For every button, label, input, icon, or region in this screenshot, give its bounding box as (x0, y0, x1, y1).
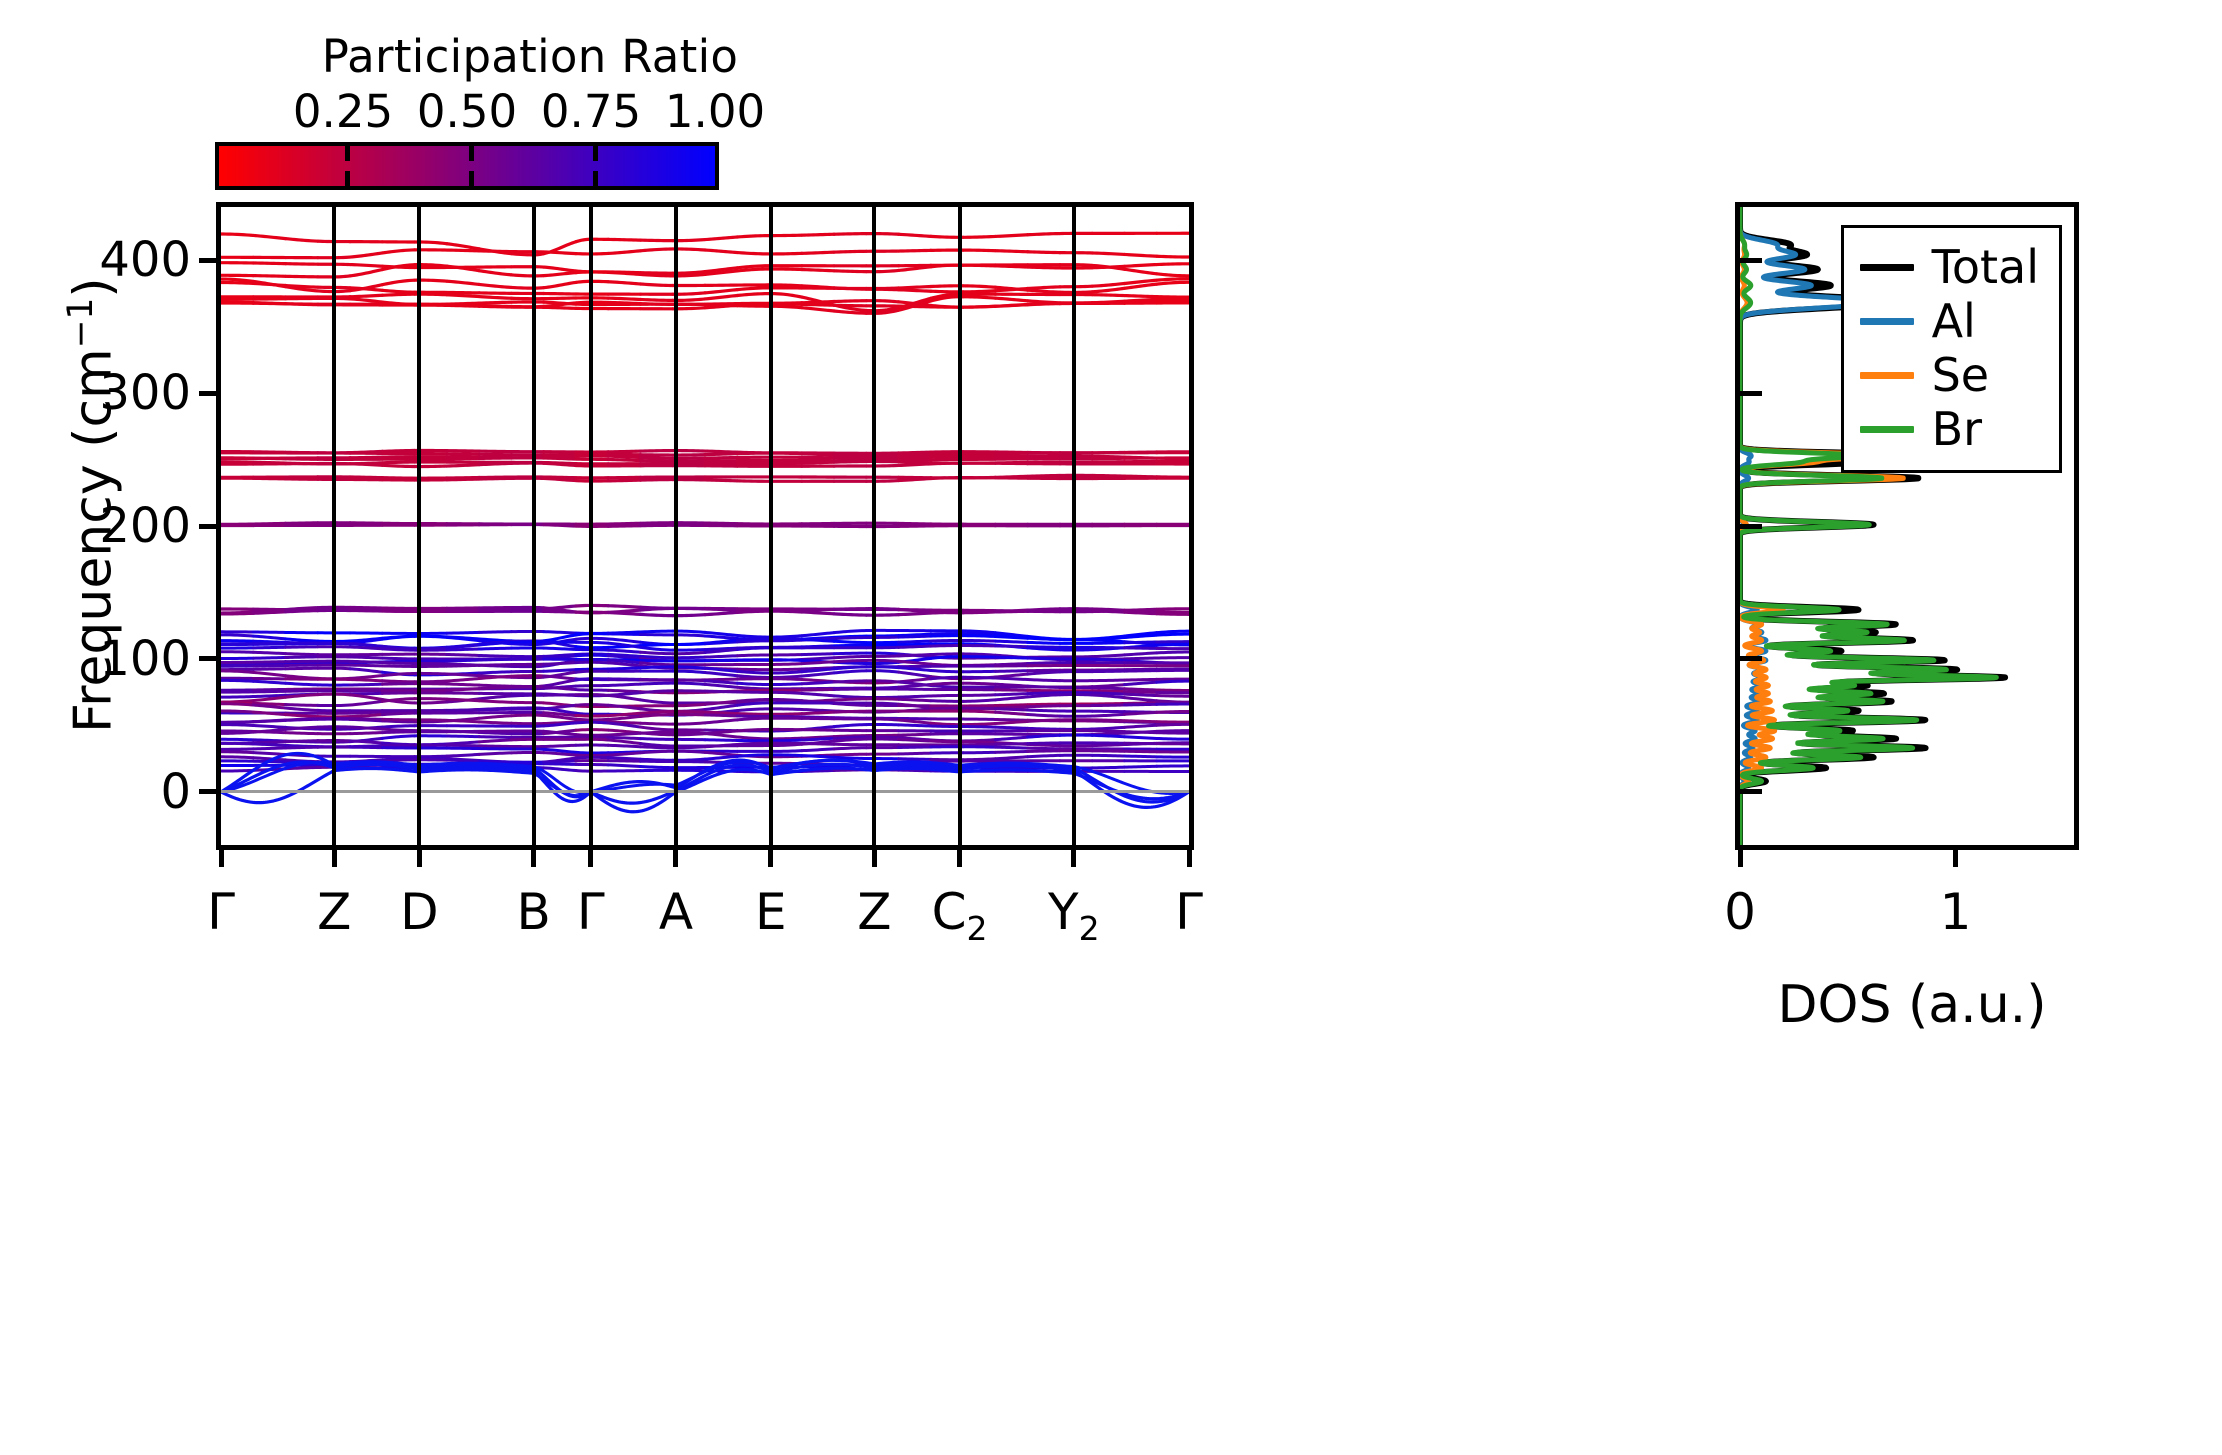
legend-label: Br (1932, 406, 1982, 452)
legend-entry: Al (1860, 294, 2039, 348)
kpoint-separator-line (332, 207, 336, 845)
dos-frequency-tick-mark (1740, 789, 1762, 794)
dos-axis-label: DOS (a.u.) (1740, 975, 2084, 1035)
kpoint-separator-line (417, 207, 421, 845)
frequency-tick-mark (199, 391, 221, 396)
colorbar-tick-labels: 0.250.500.751.00 (215, 85, 735, 139)
dos-tick-label: 1 (1940, 883, 1972, 941)
dos-frequency-tick-mark (1740, 524, 1762, 529)
colorbar-tick-mark (469, 146, 474, 161)
kpoint-tick-label: Y2 (1048, 883, 1100, 948)
kpoint-separator-line (958, 207, 962, 845)
colorbar-tick-mark (345, 146, 350, 161)
colorbar-gradient (219, 146, 715, 186)
colorbar-title: Participation Ratio (300, 30, 760, 84)
figure-canvas: Participation Ratio 0.250.500.751.00 Fre… (0, 0, 2222, 1455)
colorbar-gradient-box (215, 142, 719, 190)
legend-label: Se (1932, 352, 1990, 398)
legend-color-swatch (1860, 426, 1914, 433)
kpoint-tick-mark (219, 845, 224, 867)
zero-frequency-line (221, 790, 1189, 793)
band-structure-plot-area (221, 207, 1189, 845)
kpoint-separator-line (532, 207, 536, 845)
kpoint-tick-label: A (659, 883, 693, 941)
dos-frequency-tick-mark (1740, 391, 1762, 396)
legend-color-swatch (1860, 318, 1914, 325)
kpoint-tick-mark (1187, 845, 1192, 867)
legend-color-swatch (1860, 372, 1914, 379)
band-structure-axes: Frequency (cm−1) 0100200300400ΓZDBΓAEZC2… (216, 202, 1194, 850)
kpoint-tick-label: Γ (1175, 883, 1203, 941)
colorbar-tick-label: 0.50 (417, 85, 517, 138)
legend-entry: Total (1860, 240, 2039, 294)
colorbar-tick-mark (469, 171, 474, 186)
kpoint-tick-mark (673, 845, 678, 867)
kpoint-separator-line (674, 207, 678, 845)
kpoint-tick-label: Z (857, 883, 891, 941)
kpoint-tick-mark (957, 845, 962, 867)
dos-tick-label: 0 (1724, 883, 1756, 941)
dos-tick-mark (1738, 845, 1743, 867)
kpoint-separator-line (589, 207, 593, 845)
kpoint-tick-label: D (400, 883, 439, 941)
kpoint-tick-label: B (517, 883, 551, 941)
frequency-tick-label: 400 (99, 232, 191, 288)
participation-ratio-colorbar: Participation Ratio 0.250.500.751.00 (0, 0, 1060, 200)
legend-entry: Br (1860, 402, 2039, 456)
frequency-tick-label: 100 (99, 631, 191, 687)
colorbar-tick-label: 0.75 (541, 85, 641, 138)
colorbar-tick-mark (345, 171, 350, 186)
kpoint-tick-mark (531, 845, 536, 867)
frequency-tick-mark (199, 656, 221, 661)
dos-tick-mark (1953, 845, 1958, 867)
kpoint-separator-line (769, 207, 773, 845)
colorbar-tick-mark (593, 171, 598, 186)
kpoint-tick-label: Z (317, 883, 351, 941)
kpoint-tick-mark (872, 845, 877, 867)
frequency-tick-label: 200 (99, 498, 191, 554)
colorbar-tick-label: 0.25 (293, 85, 393, 138)
legend-color-swatch (1860, 264, 1914, 271)
kpoint-tick-label: Γ (207, 883, 235, 941)
kpoint-tick-mark (417, 845, 422, 867)
frequency-tick-mark (199, 789, 221, 794)
kpoint-tick-label: Γ (577, 883, 605, 941)
colorbar-tick-mark (593, 146, 598, 161)
legend-label: Al (1932, 298, 1976, 344)
dos-legend: TotalAlSeBr (1841, 225, 2062, 473)
kpoint-tick-mark (332, 845, 337, 867)
kpoint-separator-line (1072, 207, 1076, 845)
kpoint-tick-label: E (755, 883, 787, 941)
frequency-tick-label: 300 (99, 365, 191, 421)
kpoint-tick-mark (768, 845, 773, 867)
dos-frequency-tick-mark (1740, 656, 1762, 661)
frequency-tick-mark (199, 258, 221, 263)
kpoint-tick-mark (588, 845, 593, 867)
dos-axes: TotalAlSeBr DOS (a.u.) 01 (1735, 202, 2079, 850)
dos-frequency-tick-mark (1740, 258, 1762, 263)
kpoint-separator-line (872, 207, 876, 845)
kpoint-tick-mark (1071, 845, 1076, 867)
phonon-band-curves (221, 207, 1189, 845)
legend-entry: Se (1860, 348, 2039, 402)
frequency-tick-label: 0 (160, 764, 191, 820)
frequency-tick-mark (199, 524, 221, 529)
colorbar-tick-label: 1.00 (665, 85, 765, 138)
kpoint-tick-label: C2 (932, 883, 988, 948)
legend-label: Total (1932, 244, 2039, 290)
